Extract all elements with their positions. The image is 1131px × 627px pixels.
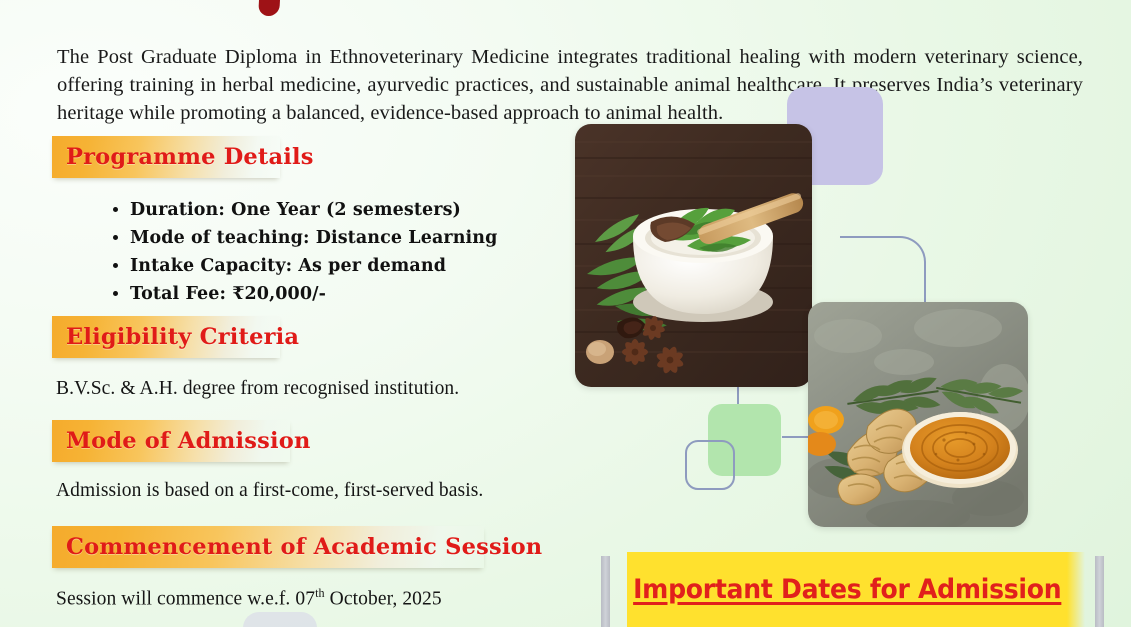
section-heading-eligibility-criteria-label: Eligibility Criteria — [66, 324, 299, 350]
list-item: Intake Capacity: As per demand — [130, 252, 497, 280]
section-heading-programme-details-label: Programme Details — [66, 144, 314, 170]
list-item: Duration: One Year (2 semesters) — [130, 196, 497, 224]
list-item: Mode of teaching: Distance Learning — [130, 224, 497, 252]
mode-of-admission-text: Admission is based on a first-come, firs… — [56, 480, 483, 502]
section-heading-mode-of-admission: Mode of Admission — [52, 420, 290, 462]
commencement-text: Session will commence w.e.f. 07th Octobe… — [56, 586, 442, 611]
eligibility-criteria-text: B.V.Sc. & A.H. degree from recognised in… — [56, 378, 459, 400]
section-heading-programme-details: Programme Details — [52, 136, 280, 178]
photo-mortar-and-pestle — [575, 124, 812, 387]
commencement-ordinal-suffix: th — [315, 586, 325, 600]
programme-details-list: Duration: One Year (2 semesters) Mode of… — [106, 196, 497, 308]
banner-yellow-panel: Important Dates for Admission — [627, 552, 1067, 627]
section-heading-commencement: Commencement of Academic Session — [52, 526, 484, 568]
top-red-accent-shape — [258, 0, 281, 16]
banner-left-bar — [601, 556, 610, 627]
bottom-lavender-decor — [243, 612, 317, 627]
banner-right-bar — [1095, 556, 1104, 627]
photo-turmeric-paste — [808, 302, 1028, 527]
outlined-decor-square — [685, 440, 735, 490]
commencement-text-after: October, 2025 — [325, 589, 442, 610]
section-heading-eligibility-criteria: Eligibility Criteria — [52, 316, 280, 358]
infographic-page: The Post Graduate Diploma in Ethnoveteri… — [0, 0, 1131, 627]
section-heading-commencement-label: Commencement of Academic Session — [66, 534, 542, 560]
intro-paragraph: The Post Graduate Diploma in Ethnoveteri… — [57, 43, 1083, 128]
list-item: Total Fee: ₹20,000/- — [130, 280, 497, 308]
important-dates-banner: Important Dates for Admission — [601, 552, 1104, 627]
section-heading-mode-of-admission-label: Mode of Admission — [66, 428, 311, 454]
banner-title: Important Dates for Admission — [633, 574, 1061, 605]
commencement-text-before: Session will commence w.e.f. 07 — [56, 589, 315, 610]
